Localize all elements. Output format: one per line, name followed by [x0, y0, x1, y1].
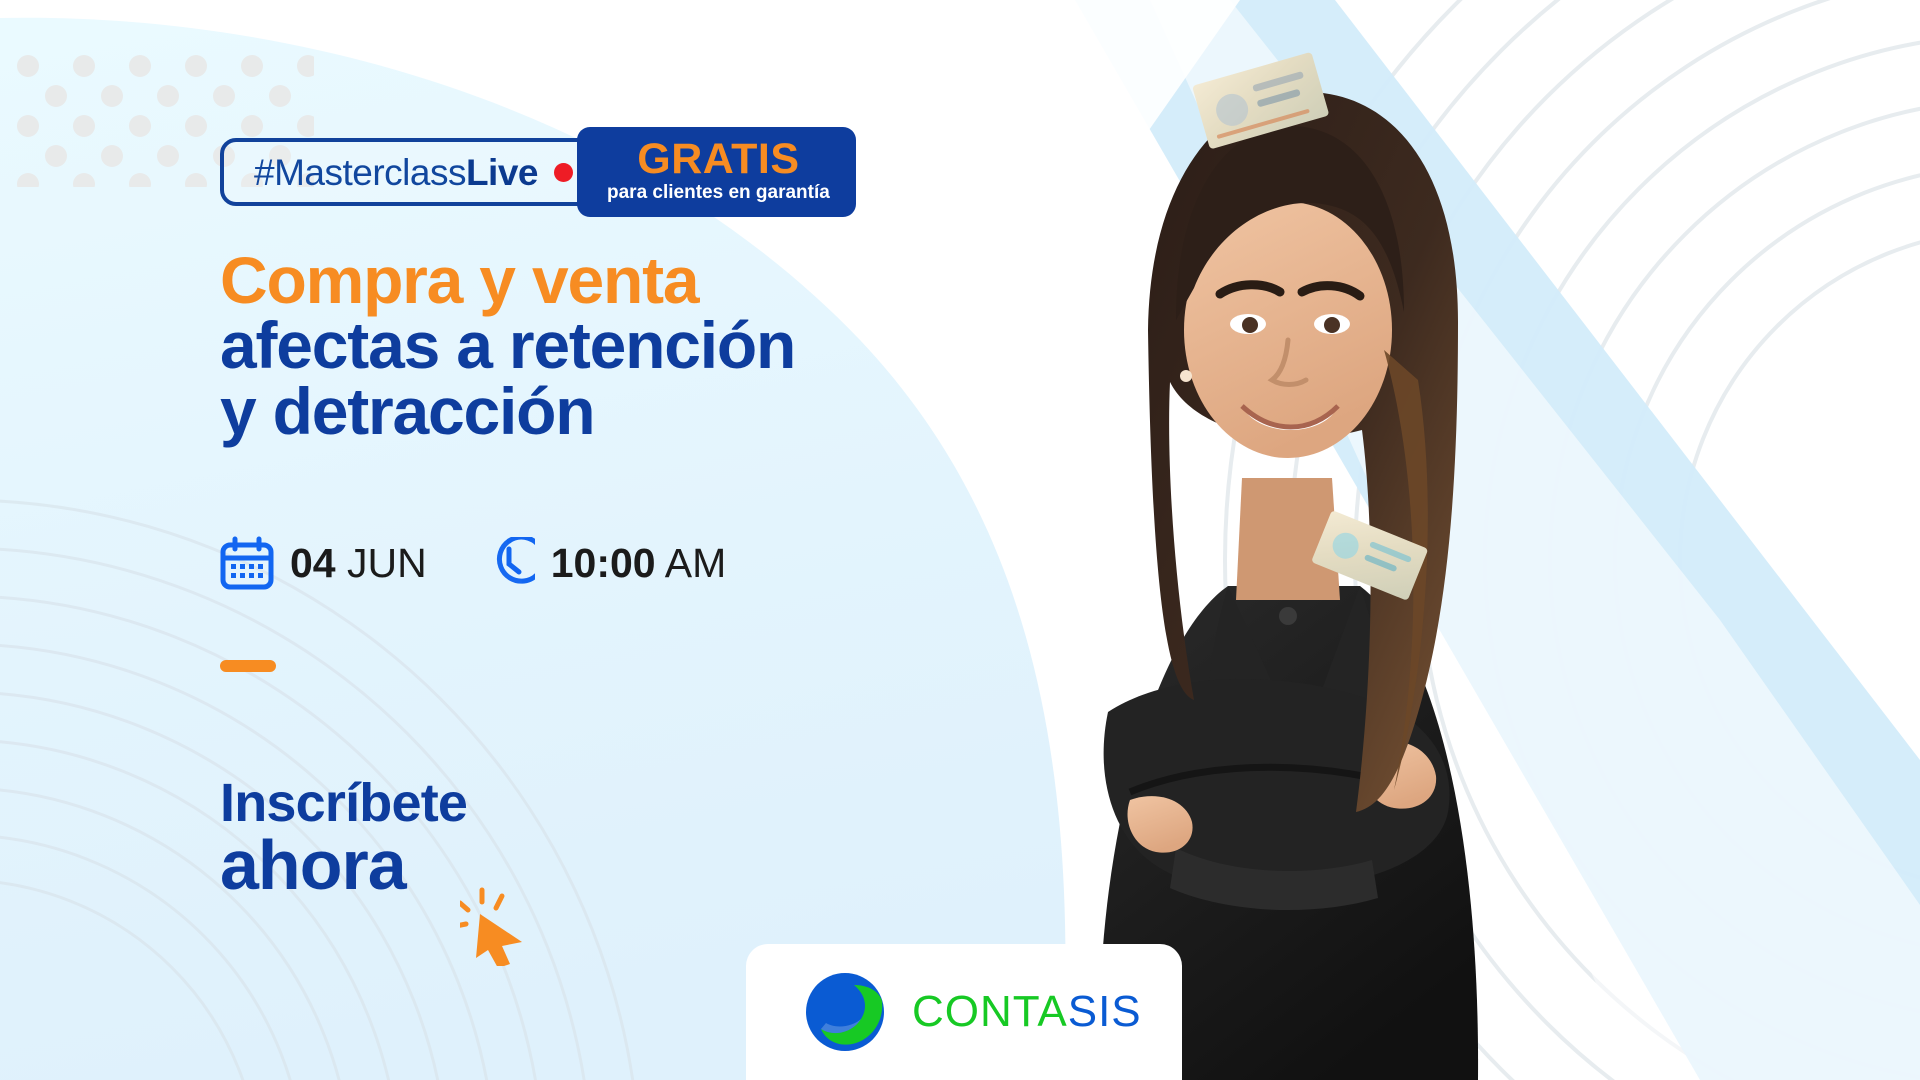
event-time: 10:00 AM: [483, 537, 727, 589]
wordmark-sis: SIS: [1068, 987, 1142, 1036]
event-date: 04 JUN: [220, 536, 427, 590]
cta-block[interactable]: Inscríbete ahora: [220, 778, 467, 899]
promo-banner: #MasterclassLive GRATIS para clientes en…: [0, 0, 1920, 1080]
event-date-month: JUN: [347, 540, 427, 586]
brand-logo-card: CONTASIS: [746, 944, 1182, 1080]
gratis-badge-title: GRATIS: [637, 138, 799, 180]
gratis-badge[interactable]: GRATIS para clientes en garantía: [577, 127, 856, 217]
wordmark-conta: CONTA: [912, 987, 1068, 1036]
headline-line-2: afectas a retención: [220, 313, 795, 378]
cta-line-1: Inscríbete: [220, 778, 467, 830]
gratis-badge-subtitle: para clientes en garantía: [607, 183, 830, 204]
headline-line-3: y detracción: [220, 379, 795, 444]
event-time-value: 10:00: [551, 540, 656, 586]
event-date-label: 04 JUN: [290, 543, 427, 584]
hashtag-live: Live: [466, 152, 538, 193]
hashtag-prefix: #Masterclass: [254, 152, 466, 193]
page-title: Compra y venta afectas a retención y det…: [220, 248, 795, 444]
masterclass-live-label: #MasterclassLive: [254, 154, 538, 191]
tag-row: #MasterclassLive GRATIS para clientes en…: [220, 138, 856, 217]
cta-line-2: ahora: [220, 832, 467, 899]
contasis-circle-logo: [804, 971, 886, 1053]
masterclass-live-pill[interactable]: #MasterclassLive: [220, 138, 603, 206]
orange-divider: [220, 660, 276, 672]
schedule-row: 04 JUN 10:00 AM: [220, 536, 726, 590]
brand-logo-wordmark: CONTASIS: [912, 990, 1142, 1034]
event-time-period: AM: [665, 540, 727, 586]
event-date-day: 04: [290, 540, 336, 586]
calendar-icon: [220, 536, 274, 590]
click-cursor-icon: [460, 886, 538, 966]
headline-line-1: Compra y venta: [220, 248, 795, 313]
event-time-label: 10:00 AM: [551, 543, 727, 584]
presenter-photo: [980, 0, 1600, 1080]
live-dot-icon: [554, 163, 573, 182]
promo-content: #MasterclassLive GRATIS para clientes en…: [220, 0, 1000, 1080]
clock-icon: [483, 537, 535, 589]
